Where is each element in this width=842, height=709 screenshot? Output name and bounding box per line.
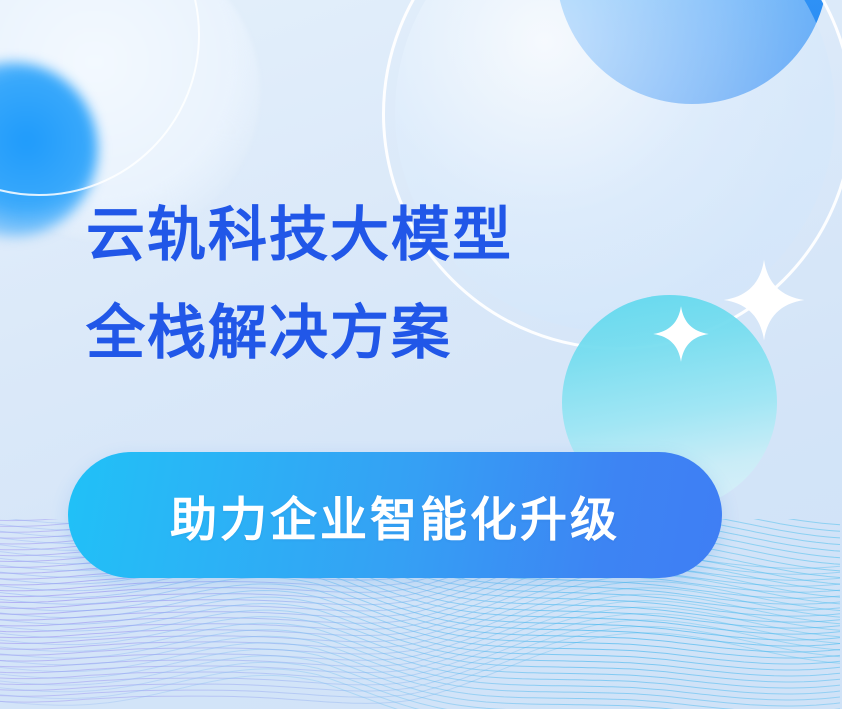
- poster-canvas: 云轨科技大模型 全栈解决方案 助力企业智能化升级: [0, 0, 842, 709]
- blue-blob-decoration: [0, 62, 98, 237]
- blue-circle-decoration: [556, 0, 828, 104]
- tagline-badge-label: 助力企业智能化升级: [170, 481, 620, 550]
- tagline-badge: 助力企业智能化升级: [68, 452, 722, 578]
- page-title: 云轨科技大模型 全栈解决方案: [86, 186, 513, 382]
- headline-line-1: 云轨科技大模型: [86, 186, 513, 284]
- headline-line-2: 全栈解决方案: [86, 284, 513, 382]
- sparkle-icon: [652, 305, 710, 363]
- sparkle-icon: [722, 258, 806, 342]
- white-arc-small-decoration: [0, 0, 200, 196]
